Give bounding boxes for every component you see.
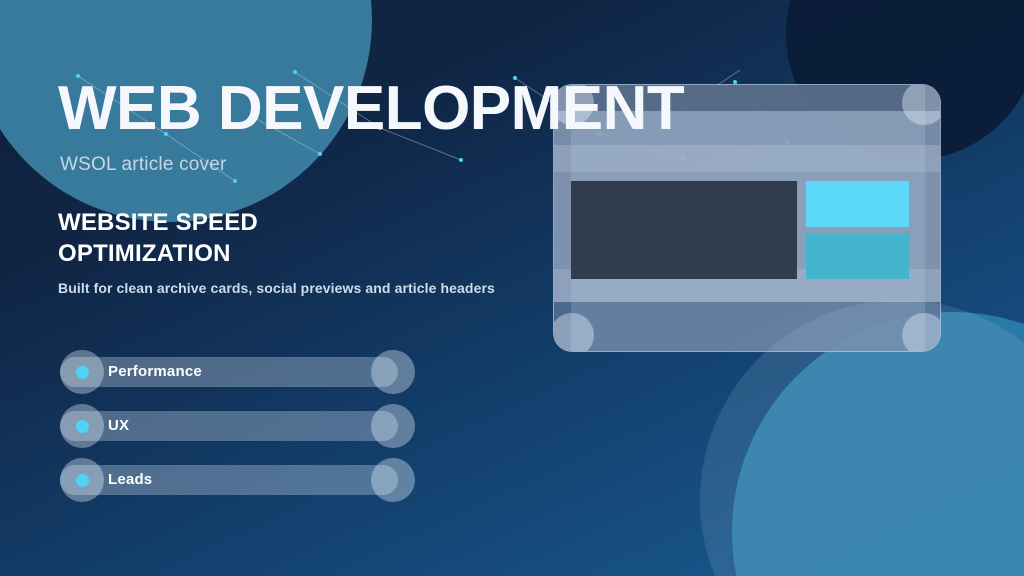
page-subtitle: WSOL article cover: [60, 154, 578, 176]
card-main-content-block: [571, 181, 797, 279]
feature-pill-ux[interactable]: UX: [60, 404, 398, 448]
pill-cap-right-circle: [371, 458, 415, 502]
section-heading-line-one: WEBSITE SPEED: [58, 208, 588, 239]
card-corner-circle-top-right: [902, 84, 941, 125]
feature-pill-leads[interactable]: Leads: [60, 458, 398, 502]
section-text-block: WEBSITE SPEED OPTIMIZATION Built for cle…: [58, 208, 588, 296]
pill-label: UX: [108, 417, 129, 434]
card-cyan-tile: [806, 181, 909, 227]
pill-label: Performance: [108, 363, 202, 380]
cover-slide: WEB DEVELOPMENT WSOL article cover WEBSI…: [0, 0, 1024, 576]
card-corner-circle-bottom-left: [553, 313, 594, 352]
pill-cap-right-circle: [371, 350, 415, 394]
hero-text-block: WEB DEVELOPMENT WSOL article cover: [58, 78, 578, 176]
pill-cap-right-circle: [371, 404, 415, 448]
feature-pill-performance[interactable]: Performance: [60, 350, 398, 394]
pill-label: Leads: [108, 471, 152, 488]
feature-pill-list: Performance UX Leads: [60, 350, 398, 512]
section-description: Built for clean archive cards, social pr…: [58, 280, 588, 296]
page-title: WEB DEVELOPMENT: [58, 78, 578, 140]
pill-bullet-dot-icon: [76, 474, 89, 487]
pill-bullet-dot-icon: [76, 420, 89, 433]
section-heading-line-two: OPTIMIZATION: [58, 239, 588, 270]
card-teal-tile: [806, 233, 909, 279]
pill-bullet-dot-icon: [76, 366, 89, 379]
